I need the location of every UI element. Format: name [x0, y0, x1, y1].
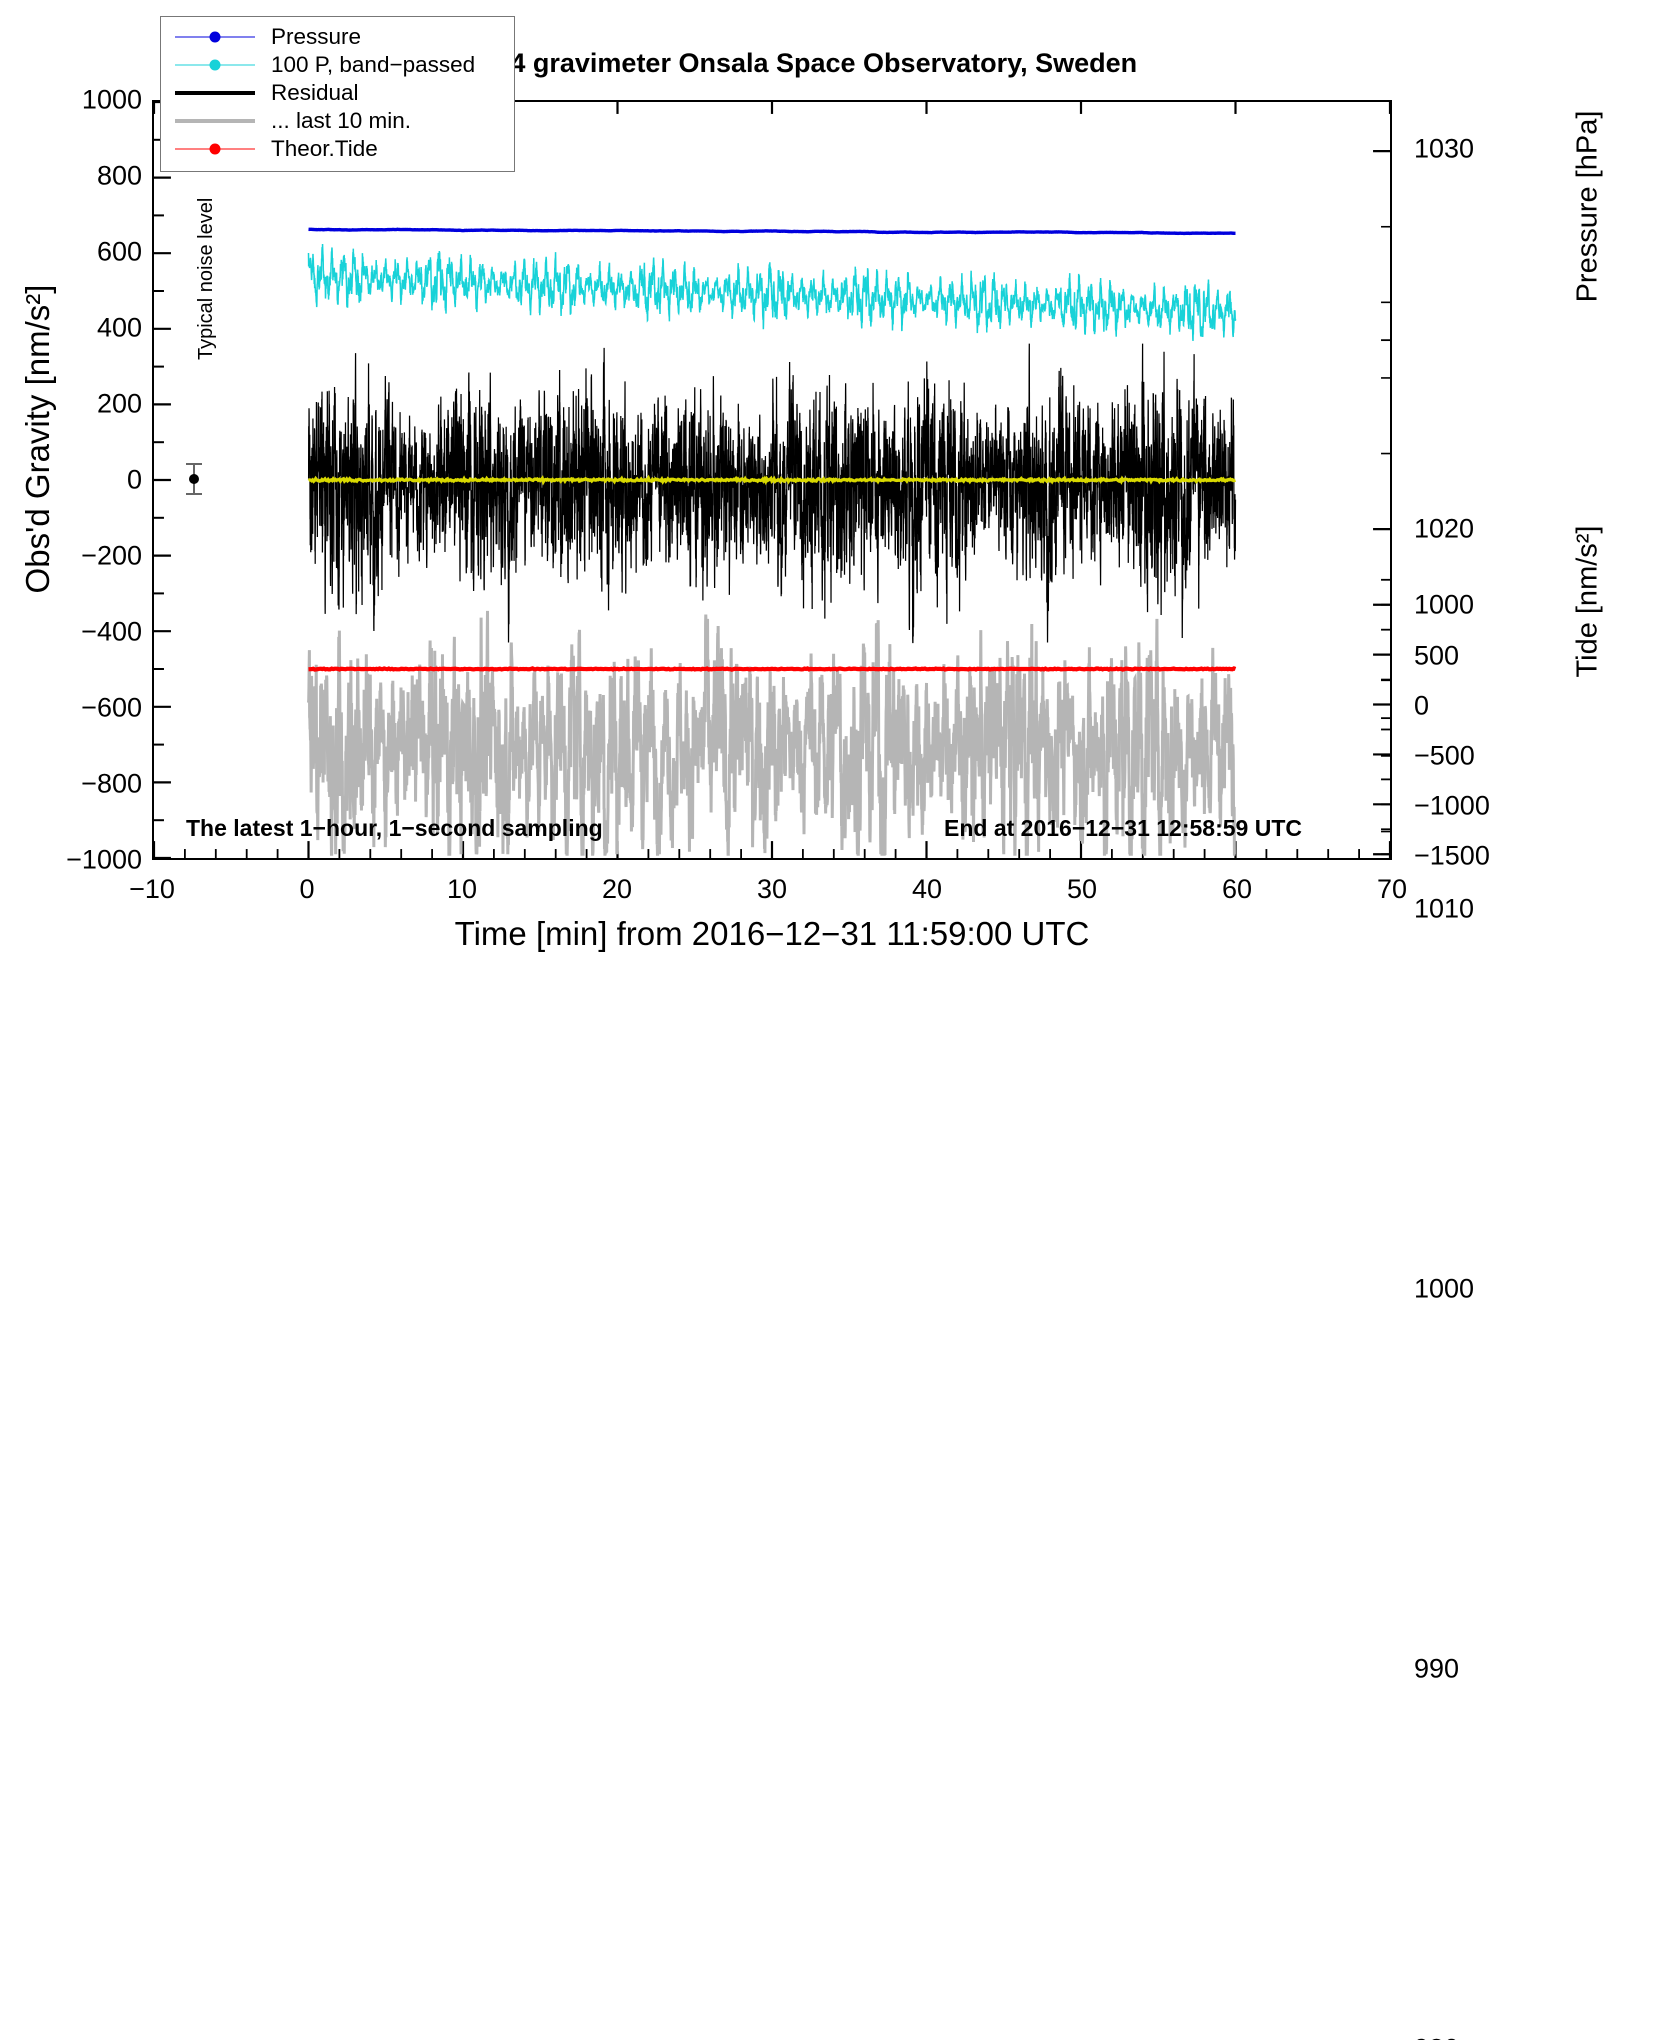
y-tick-label-tide: 0 — [1414, 692, 1534, 719]
y-tick-label-left: −400 — [34, 619, 142, 646]
legend-item-residual[interactable]: Residual — [161, 79, 514, 107]
legend-dot-icon — [210, 144, 221, 155]
x-tick-label: 40 — [867, 876, 987, 903]
legend[interactable]: Pressure100 P, band−passedResidual... la… — [160, 16, 515, 172]
y-tick-label-pressure: 1000 — [1414, 1276, 1504, 1303]
y-tick-label-left: 800 — [34, 163, 142, 190]
annotation-sampling-info: The latest 1−hour, 1−second sampling — [186, 815, 603, 842]
x-tick-label: 20 — [557, 876, 677, 903]
y-tick-label-left: −800 — [34, 771, 142, 798]
y-tick-label-tide: −500 — [1414, 742, 1534, 769]
y-tick-label-left: −600 — [34, 695, 142, 722]
y-tick-label-left: −1000 — [34, 847, 142, 874]
series-theoretical-tide — [309, 668, 1236, 669]
y-tick-label-pressure: 980 — [1414, 2036, 1504, 2040]
y-tick-label-tide: −1000 — [1414, 793, 1534, 820]
y-tick-label-left: 1000 — [34, 87, 142, 114]
y-tick-label-left: −200 — [34, 543, 142, 570]
y-tick-label-tide: 1000 — [1414, 592, 1534, 619]
legend-swatch-icon — [175, 83, 255, 103]
x-tick-label: 0 — [247, 876, 367, 903]
plot-area — [152, 100, 1392, 860]
legend-label: Theor.Tide — [255, 136, 378, 162]
x-axis-label: Time [min] from 2016−12−31 11:59:00 UTC — [152, 915, 1392, 953]
annotation-end-time: End at 2016−12−31 12:58:59 UTC — [944, 815, 1302, 842]
x-tick-label: 30 — [712, 876, 832, 903]
legend-dot-icon — [210, 60, 221, 71]
series-tide-fit — [309, 478, 1236, 482]
legend-swatch-icon — [175, 139, 255, 159]
y-tick-label-left: 400 — [34, 315, 142, 342]
y-axis-label-pressure: Pressure [hPa] — [1572, 47, 1605, 367]
legend-dot-icon — [210, 32, 221, 43]
chart-canvas: SCG_054 gravimeter Onsala Space Observat… — [0, 0, 1660, 1020]
legend-label: Residual — [255, 80, 359, 106]
legend-label: Pressure — [255, 24, 361, 50]
y-tick-label-left: 600 — [34, 239, 142, 266]
x-tick-label: 10 — [402, 876, 522, 903]
legend-item-100-p-band-passed[interactable]: 100 P, band−passed — [161, 51, 514, 79]
y-tick-label-left: 0 — [34, 467, 142, 494]
legend-item-pressure[interactable]: Pressure — [161, 23, 514, 51]
legend-label: 100 P, band−passed — [255, 52, 475, 78]
y-tick-label-pressure: 990 — [1414, 1656, 1504, 1683]
series-pressure — [309, 229, 1236, 233]
y-tick-label-tide: −1500 — [1414, 843, 1534, 870]
legend-swatch-icon — [175, 111, 255, 131]
x-tick-label: 50 — [1022, 876, 1142, 903]
legend-label: ... last 10 min. — [255, 108, 411, 134]
plot-svg — [154, 102, 1390, 858]
series-pressure-bandpassed — [309, 244, 1236, 341]
y-tick-label-pressure: 1010 — [1414, 896, 1504, 923]
y-tick-label-tide: 500 — [1414, 642, 1534, 669]
legend-item-theor-tide[interactable]: Theor.Tide — [161, 135, 514, 163]
x-tick-label: −10 — [92, 876, 212, 903]
y-tick-label-pressure: 1020 — [1414, 516, 1504, 543]
y-tick-label-pressure: 1030 — [1414, 136, 1504, 163]
y-tick-label-left: 200 — [34, 391, 142, 418]
legend-item-last-10-min[interactable]: ... last 10 min. — [161, 107, 514, 135]
x-tick-label: 60 — [1177, 876, 1297, 903]
typical-noise-level-marker — [182, 462, 206, 496]
y-axis-label-tide: Tide [nm/s²] — [1572, 442, 1605, 762]
legend-swatch-icon — [175, 55, 255, 75]
legend-swatch-icon — [175, 27, 255, 47]
series-residual — [309, 344, 1236, 643]
